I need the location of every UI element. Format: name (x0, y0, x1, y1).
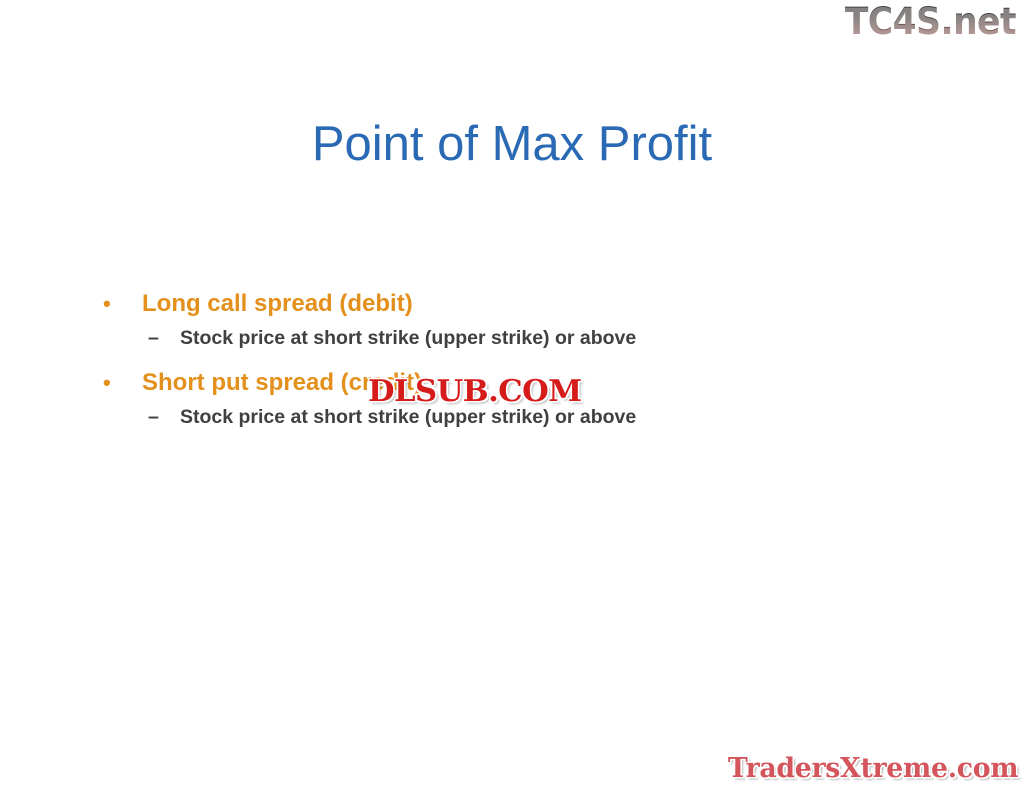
sub-bullet-item-long-call-condition: – Stock price at short strike (upper str… (100, 323, 930, 354)
sub-bullet-label: Stock price at short strike (upper strik… (180, 406, 636, 428)
dash-icon: – (148, 402, 159, 433)
dash-icon: – (148, 323, 159, 354)
tc4s-logo-watermark: TC4S.net (845, 2, 1016, 42)
bullet-label: Long call spread (debit) (142, 290, 413, 317)
bullet-list: • Long call spread (debit) – Stock price… (100, 287, 930, 439)
tradersxtreme-watermark: TradersXtreme.com (728, 753, 1018, 785)
bullet-dot-icon: • (103, 287, 111, 321)
page-title: Point of Max Profit (0, 115, 1024, 173)
sub-bullet-label: Stock price at short strike (upper strik… (180, 327, 636, 349)
slide-canvas: { "slide": { "title": "Point of Max Prof… (0, 0, 1024, 791)
dlsub-watermark: DLSUB.COM (368, 376, 582, 408)
bullet-item-long-call-spread: • Long call spread (debit) (100, 287, 930, 321)
bullet-dot-icon: • (103, 366, 111, 400)
